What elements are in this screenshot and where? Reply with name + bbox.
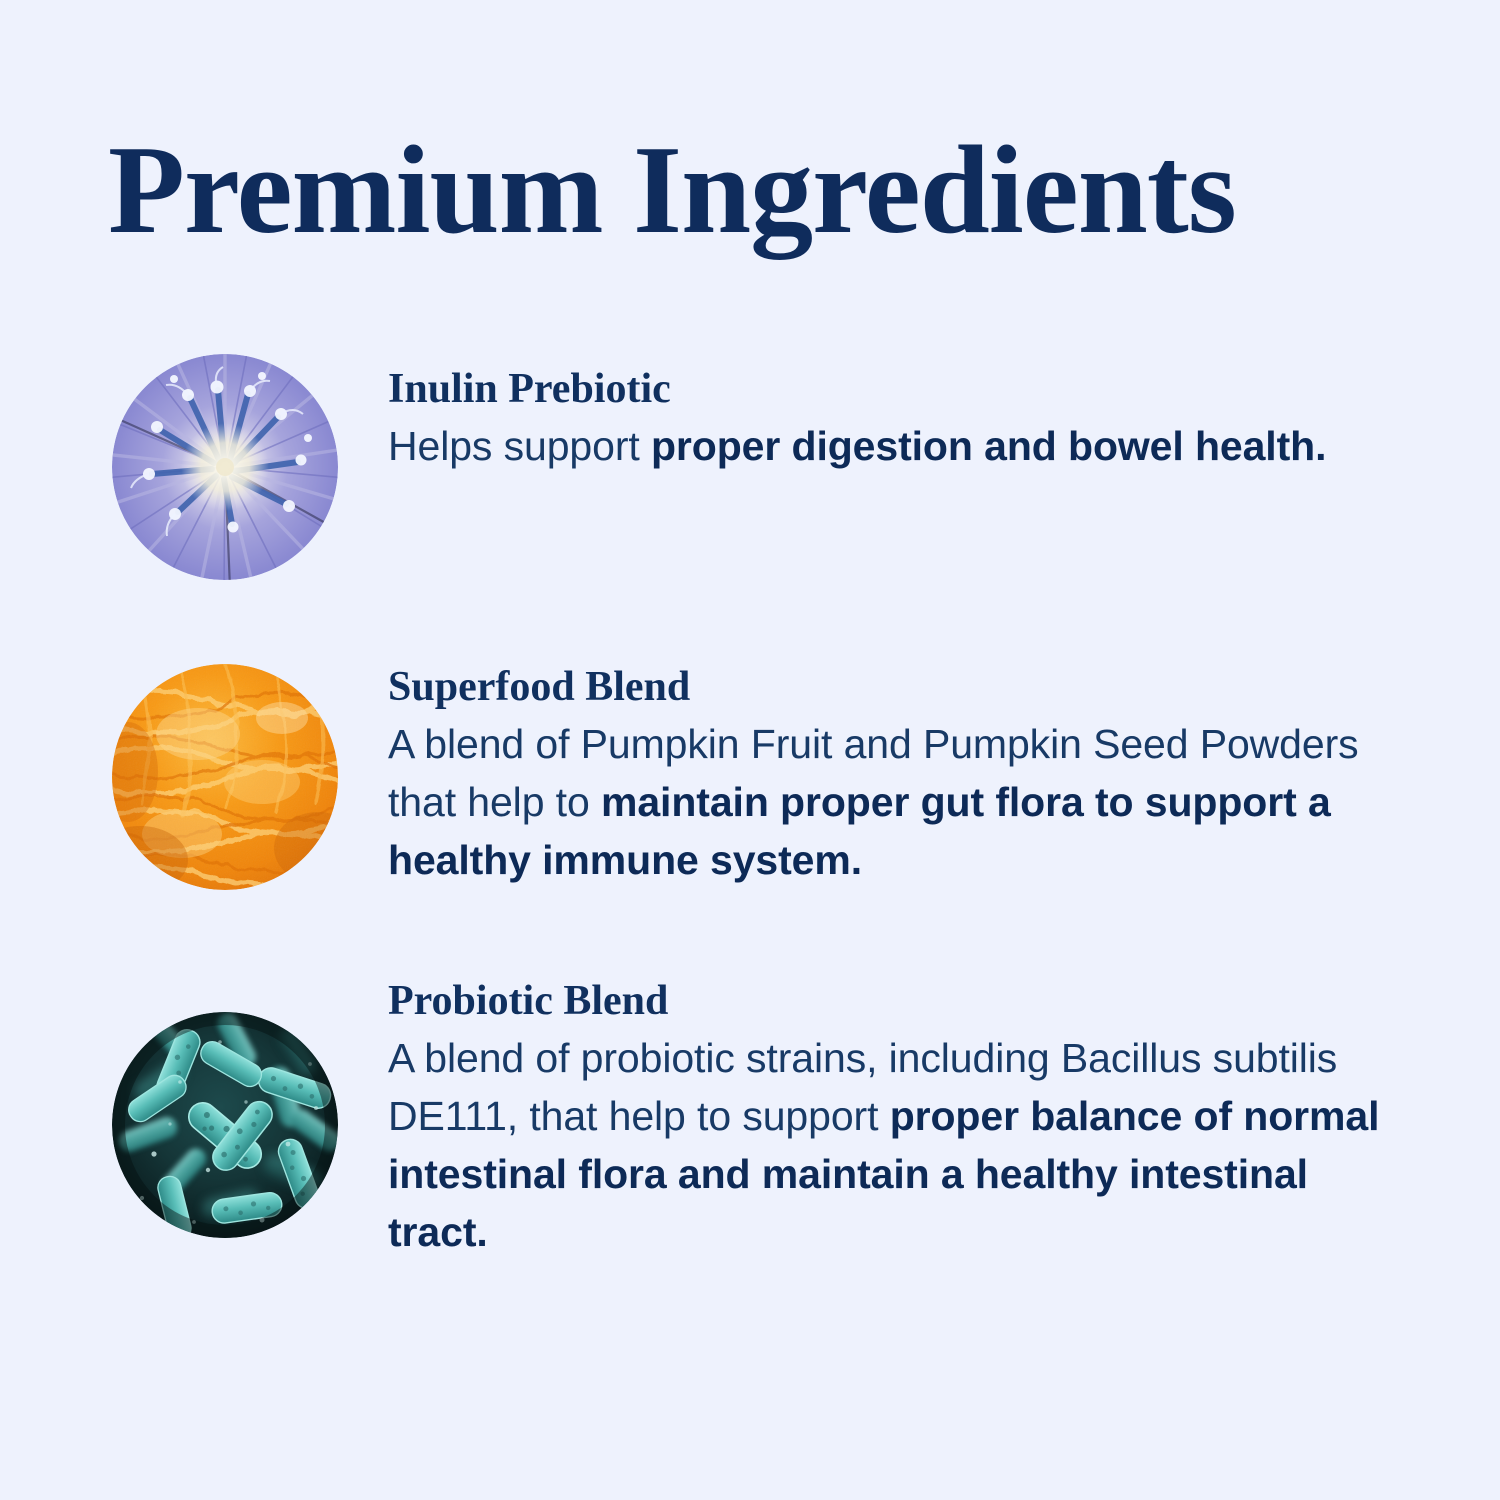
ingredient-text: Probiotic Blend A blend of probiotic str… [388, 978, 1398, 1261]
premium-ingredients-page: Premium Ingredients [0, 0, 1500, 1500]
ingredient-thumbnail-wrap [112, 1012, 338, 1238]
ingredient-heading: Inulin Prebiotic [388, 366, 1398, 413]
ingredient-heading: Probiotic Blend [388, 978, 1398, 1025]
page-title: Premium Ingredients [108, 128, 1408, 254]
ingredient-description: A blend of Pumpkin Fruit and Pumpkin See… [388, 715, 1398, 889]
ingredient-text: Superfood Blend A blend of Pumpkin Fruit… [388, 652, 1398, 889]
ingredient-item: Probiotic Blend A blend of probiotic str… [0, 978, 1500, 1261]
ingredient-description: A blend of probiotic strains, including … [388, 1029, 1398, 1261]
ingredient-heading: Superfood Blend [388, 664, 1398, 711]
description-lead: Helps support [388, 423, 651, 469]
pumpkin-flesh-photo [112, 664, 338, 890]
ingredient-item: Inulin Prebiotic Helps support proper di… [0, 352, 1500, 580]
chicory-flower-photo [112, 354, 338, 580]
ingredient-description: Helps support proper digestion and bowel… [388, 417, 1398, 475]
ingredient-thumbnail-wrap [112, 664, 338, 890]
ingredient-item: Superfood Blend A blend of Pumpkin Fruit… [0, 652, 1500, 890]
ingredient-list: Inulin Prebiotic Helps support proper di… [0, 352, 1500, 1261]
description-emphasis: proper digestion and bowel health. [651, 423, 1326, 469]
probiotic-bacteria-photo [112, 1012, 338, 1238]
ingredient-text: Inulin Prebiotic Helps support proper di… [388, 352, 1398, 475]
ingredient-thumbnail-wrap [112, 354, 338, 580]
